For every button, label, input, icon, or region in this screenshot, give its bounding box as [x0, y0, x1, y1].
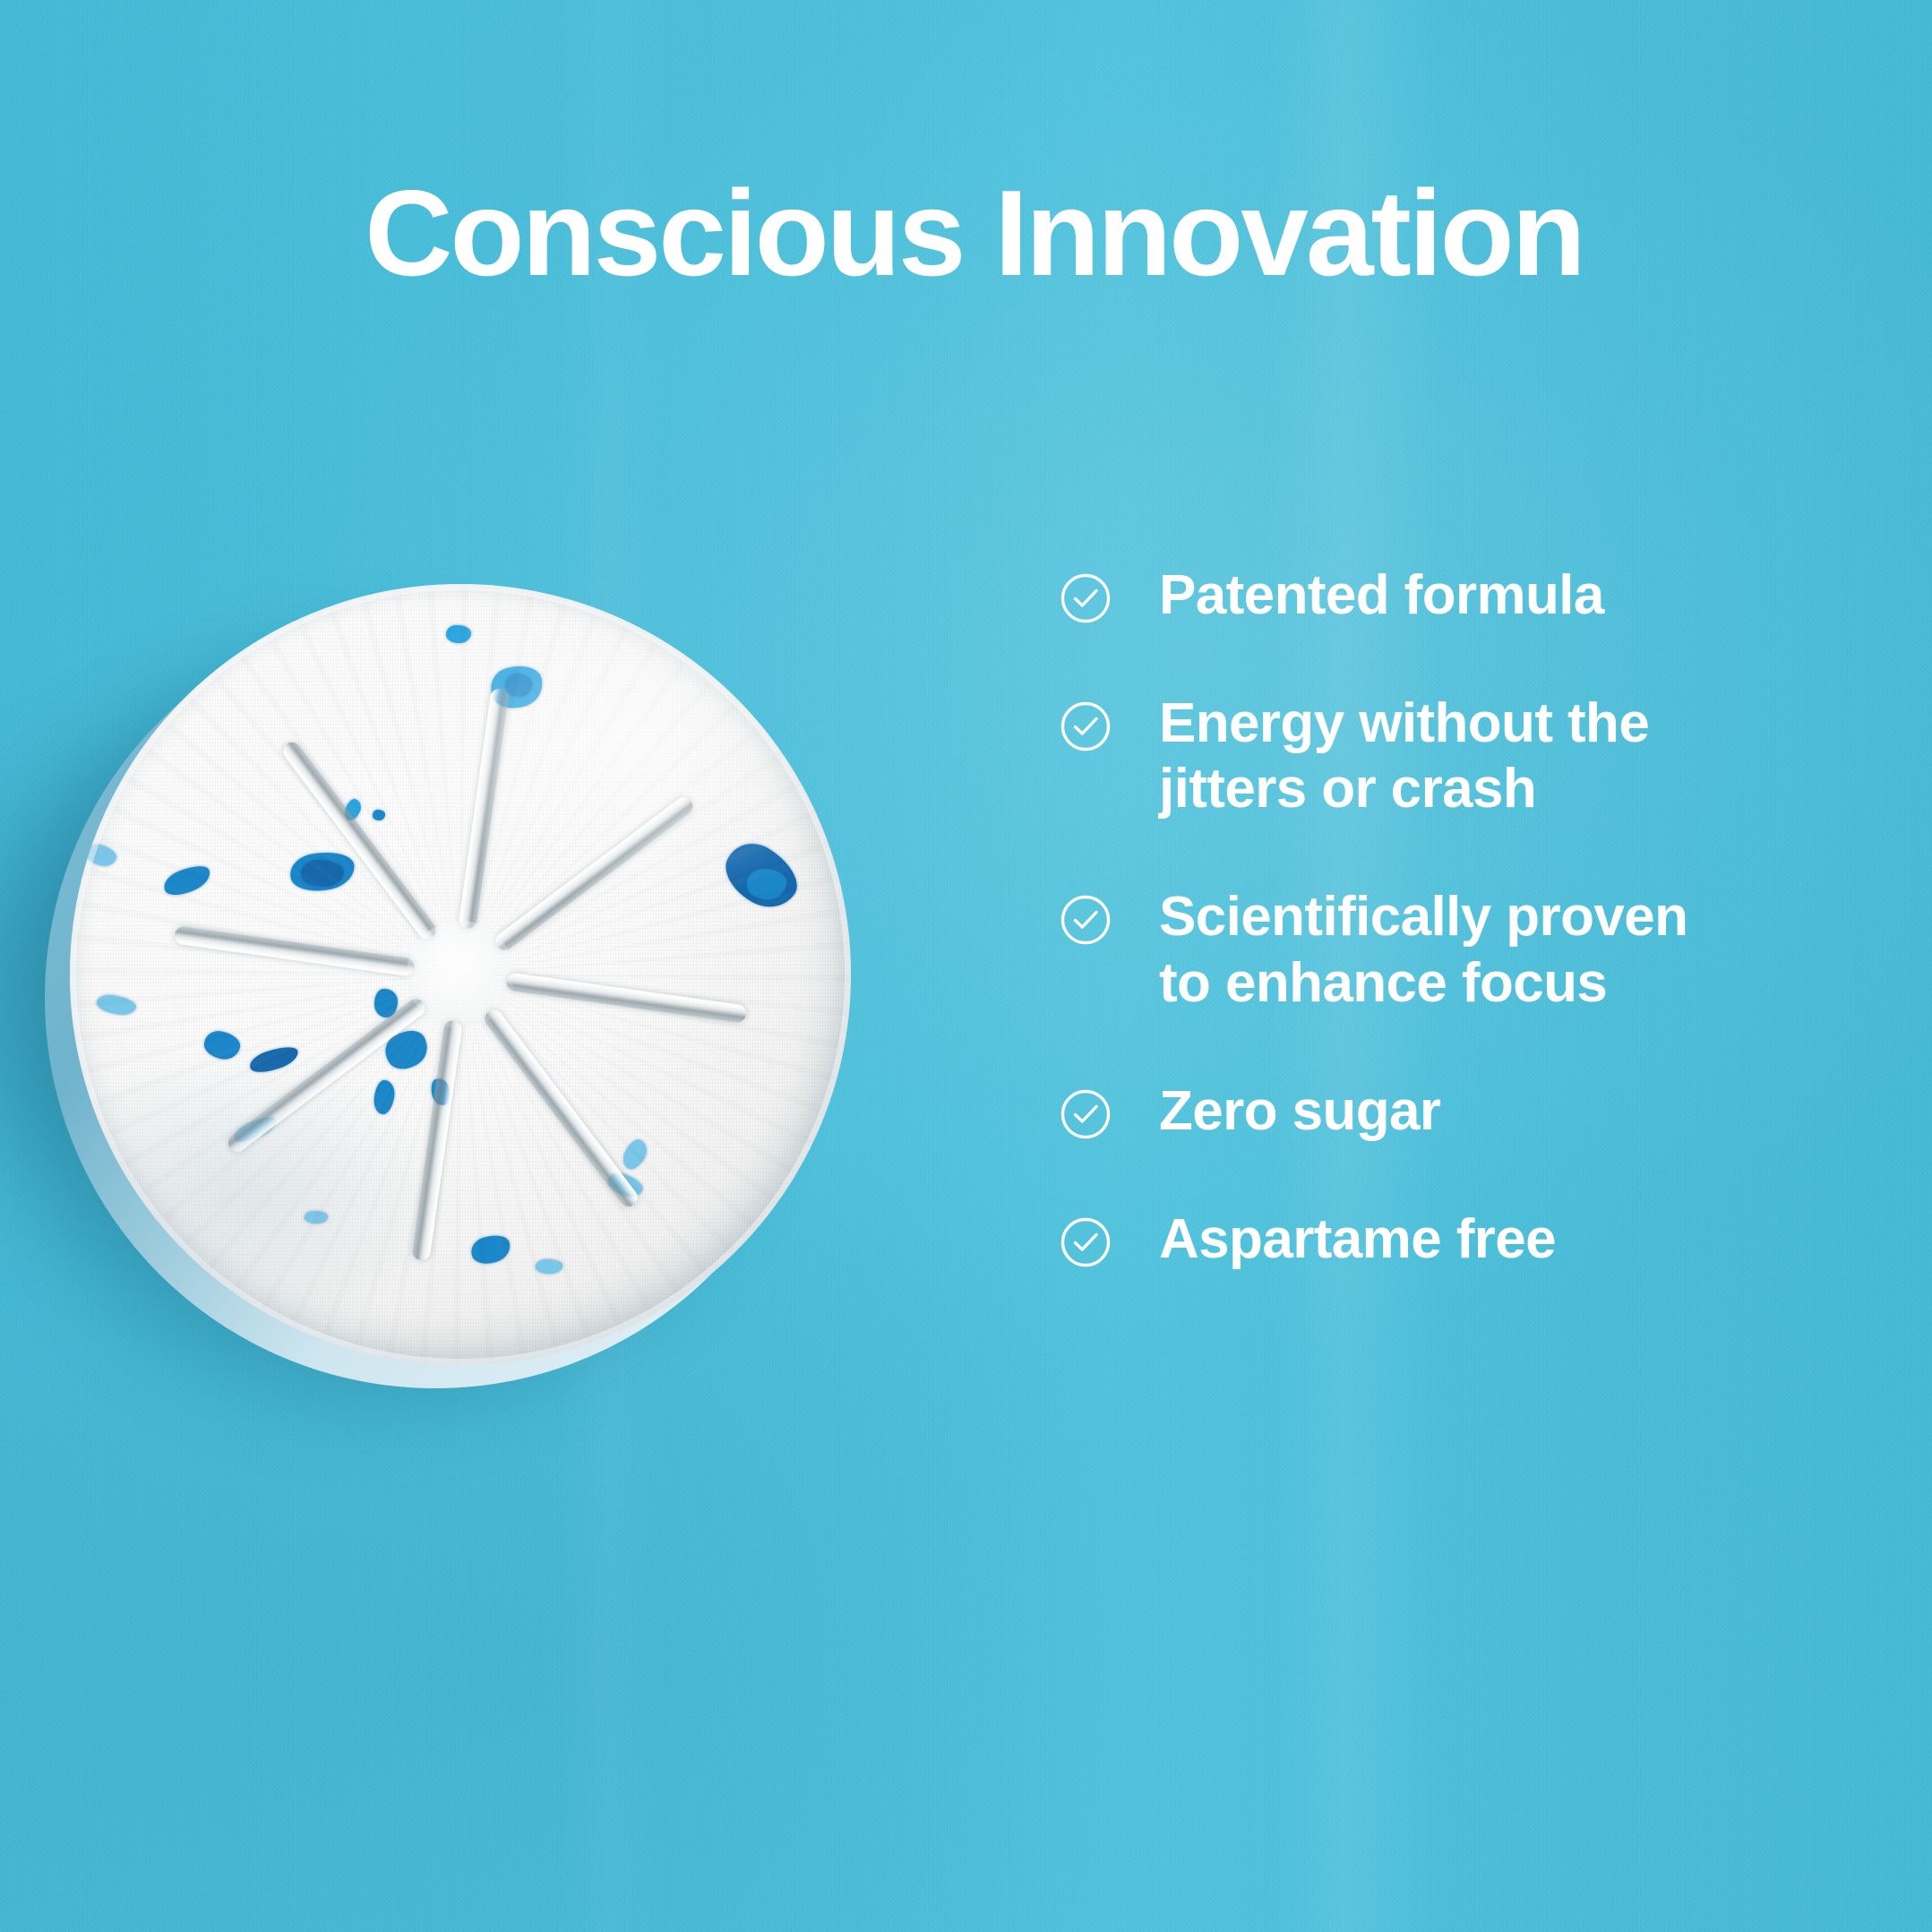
check-circle-icon [1059, 893, 1112, 947]
check-circle-icon [1059, 700, 1112, 753]
tablet-starburst-grooves [70, 584, 851, 1365]
marketing-graphic: Conscious Innovation [0, 0, 1932, 1932]
list-item-line: Aspartame free [1159, 1206, 1556, 1272]
list-item: Scientifically proven to enhance focus [1059, 884, 1901, 1015]
list-item: Energy without the jitters or crash [1059, 691, 1901, 821]
list-item-label: Patented formula [1159, 562, 1604, 628]
page-title: Conscious Innovation [0, 172, 1932, 294]
list-item-label: Scientifically proven to enhance focus [1159, 884, 1687, 1015]
list-item-line: Patented formula [1159, 562, 1604, 628]
list-item-line: Zero sugar [1159, 1078, 1440, 1144]
list-item: Patented formula [1059, 562, 1901, 628]
check-circle-icon [1059, 1087, 1112, 1141]
effervescent-tablet-image [38, 564, 942, 1576]
check-circle-icon [1059, 1215, 1112, 1269]
list-item-label: Energy without the jitters or crash [1159, 691, 1649, 821]
list-item-line: Scientifically proven [1159, 884, 1687, 949]
list-item: Aspartame free [1059, 1206, 1901, 1272]
list-item-line: jitters or crash [1159, 756, 1649, 821]
list-item-line: Energy without the [1159, 691, 1649, 756]
tablet-center-mark [407, 921, 514, 1028]
check-circle-icon [1059, 571, 1112, 625]
list-item-label: Zero sugar [1159, 1078, 1440, 1144]
list-item: Zero sugar [1059, 1078, 1901, 1144]
list-item-label: Aspartame free [1159, 1206, 1556, 1272]
feature-list: Patented formula Energy without the jitt… [1059, 562, 1901, 1272]
list-item-line: to enhance focus [1159, 950, 1687, 1016]
